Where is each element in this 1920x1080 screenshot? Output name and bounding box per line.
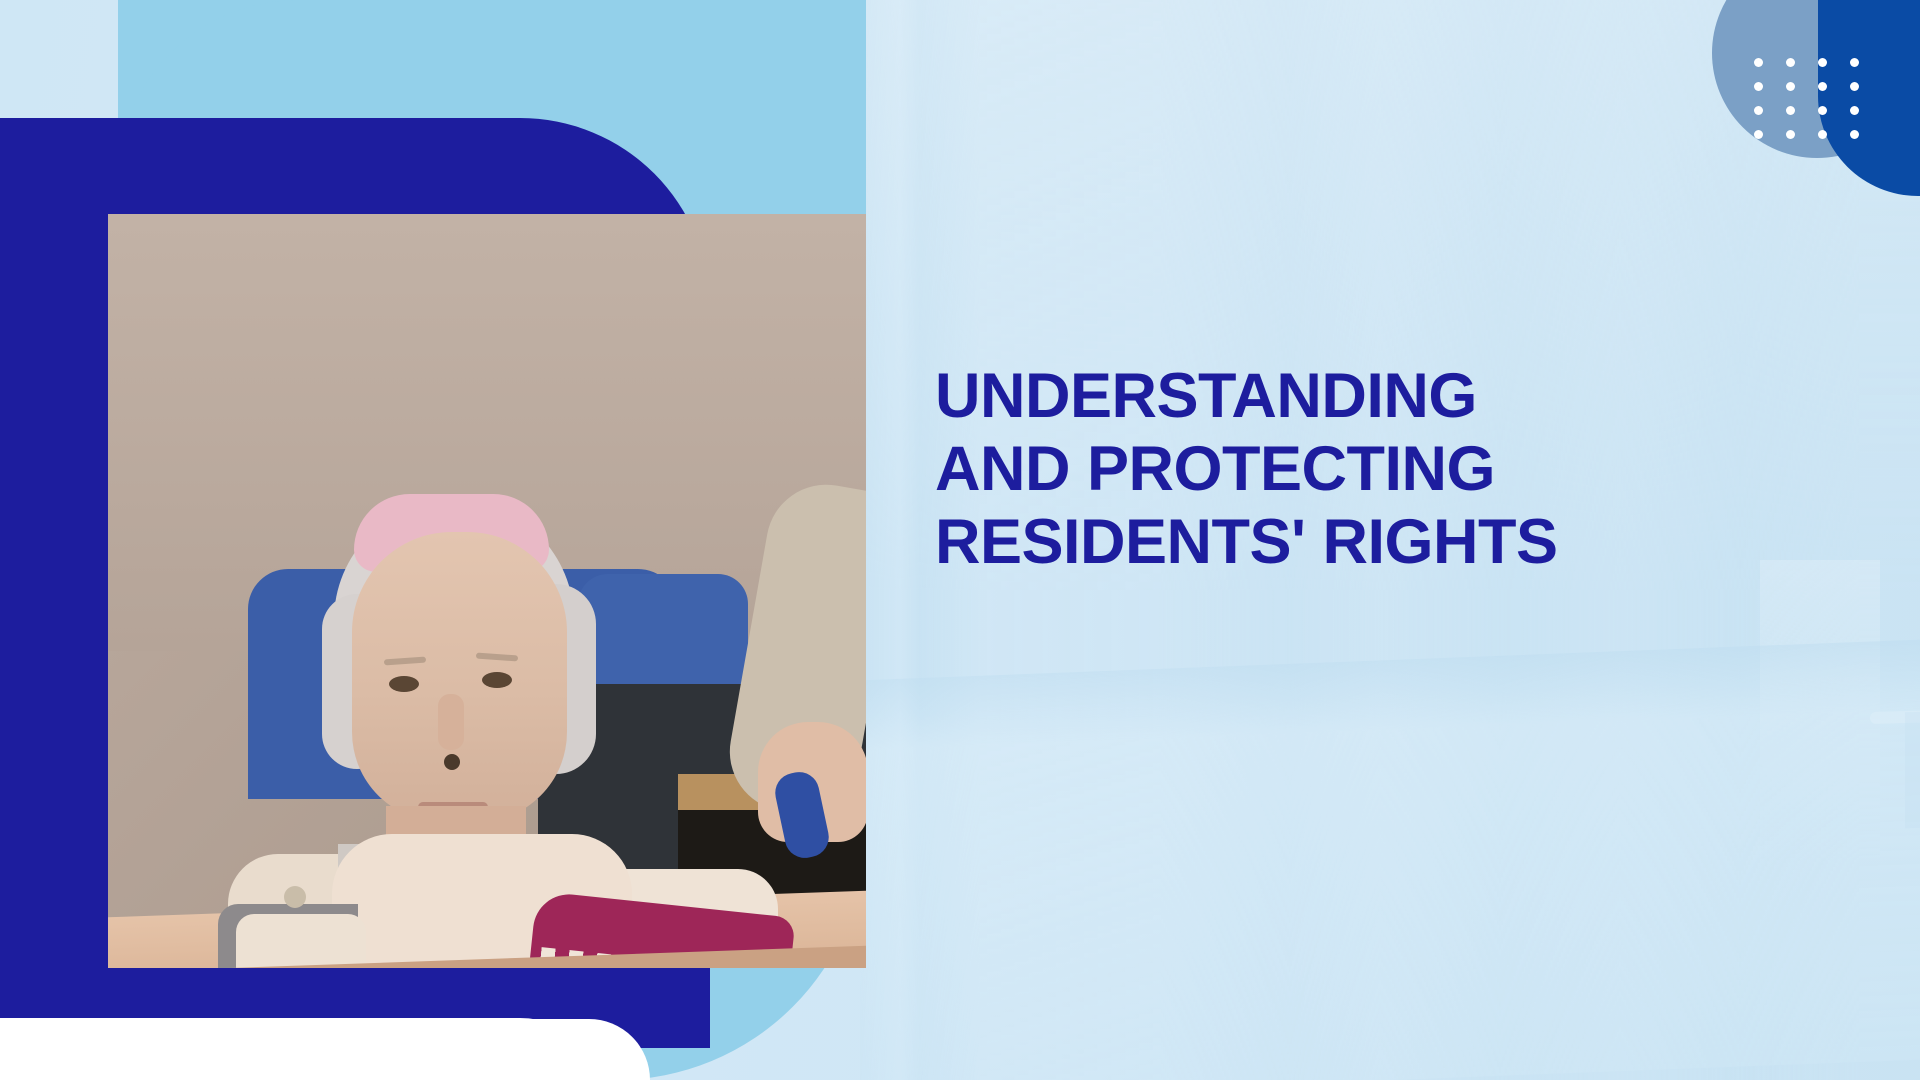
banner-canvas: UNDERSTANDING AND PROTECTING RESIDENTS' … xyxy=(0,0,1920,1080)
resident-photo xyxy=(108,214,866,968)
ghost-post xyxy=(1905,712,1920,828)
photo-cuff-left xyxy=(236,914,366,968)
dot xyxy=(1818,106,1827,115)
dot xyxy=(1754,130,1763,139)
photo-eye-left xyxy=(389,676,419,692)
headline-line-1: UNDERSTANDING xyxy=(935,360,1835,433)
dot xyxy=(1786,106,1795,115)
banner-headline: UNDERSTANDING AND PROTECTING RESIDENTS' … xyxy=(935,360,1835,579)
headline-line-3: RESIDENTS' RIGHTS xyxy=(935,506,1835,579)
dot xyxy=(1850,106,1859,115)
photo-nose xyxy=(438,694,464,750)
dot xyxy=(1818,82,1827,91)
dot xyxy=(1786,130,1795,139)
dot xyxy=(1754,58,1763,67)
dot xyxy=(1850,130,1859,139)
white-rounded-shape-inner xyxy=(0,1019,650,1080)
dot xyxy=(1754,82,1763,91)
ghost-wall-panel xyxy=(1760,560,1880,860)
photo-button xyxy=(284,886,306,908)
photo-mole xyxy=(444,754,460,770)
ghost-handrail xyxy=(1870,688,1920,724)
dot-grid-decoration xyxy=(1754,58,1882,154)
dot xyxy=(1850,58,1859,67)
dot xyxy=(1786,58,1795,67)
dot xyxy=(1754,106,1763,115)
dot xyxy=(1818,58,1827,67)
headline-line-2: AND PROTECTING xyxy=(935,433,1835,506)
dot xyxy=(1850,82,1859,91)
dot xyxy=(1786,82,1795,91)
dot xyxy=(1818,130,1827,139)
photo-face xyxy=(352,532,567,822)
photo-eye-right xyxy=(482,672,512,688)
